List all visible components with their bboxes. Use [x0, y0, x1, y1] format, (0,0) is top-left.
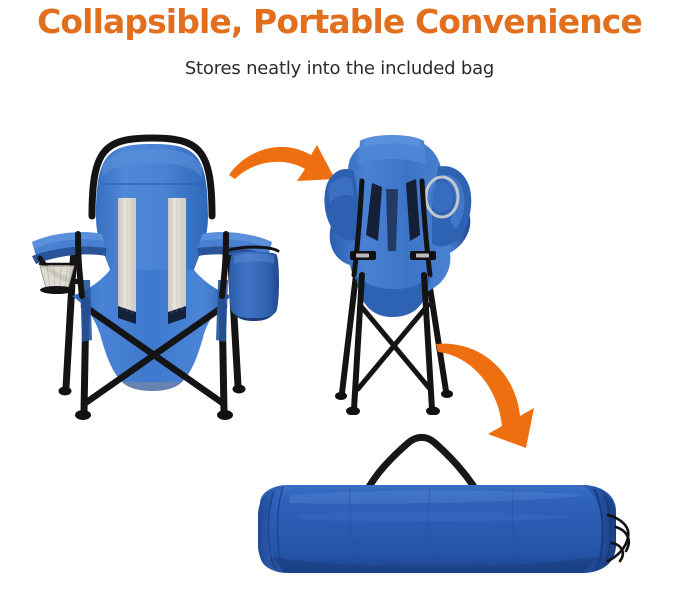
illustration-stage	[0, 95, 679, 592]
page-title: Collapsible, Portable Convenience	[0, 2, 679, 42]
promo-image: Collapsible, Portable Convenience Stores…	[0, 0, 679, 592]
carry-bag-illustration	[230, 415, 640, 590]
page-subtitle: Stores neatly into the included bag	[0, 56, 679, 82]
